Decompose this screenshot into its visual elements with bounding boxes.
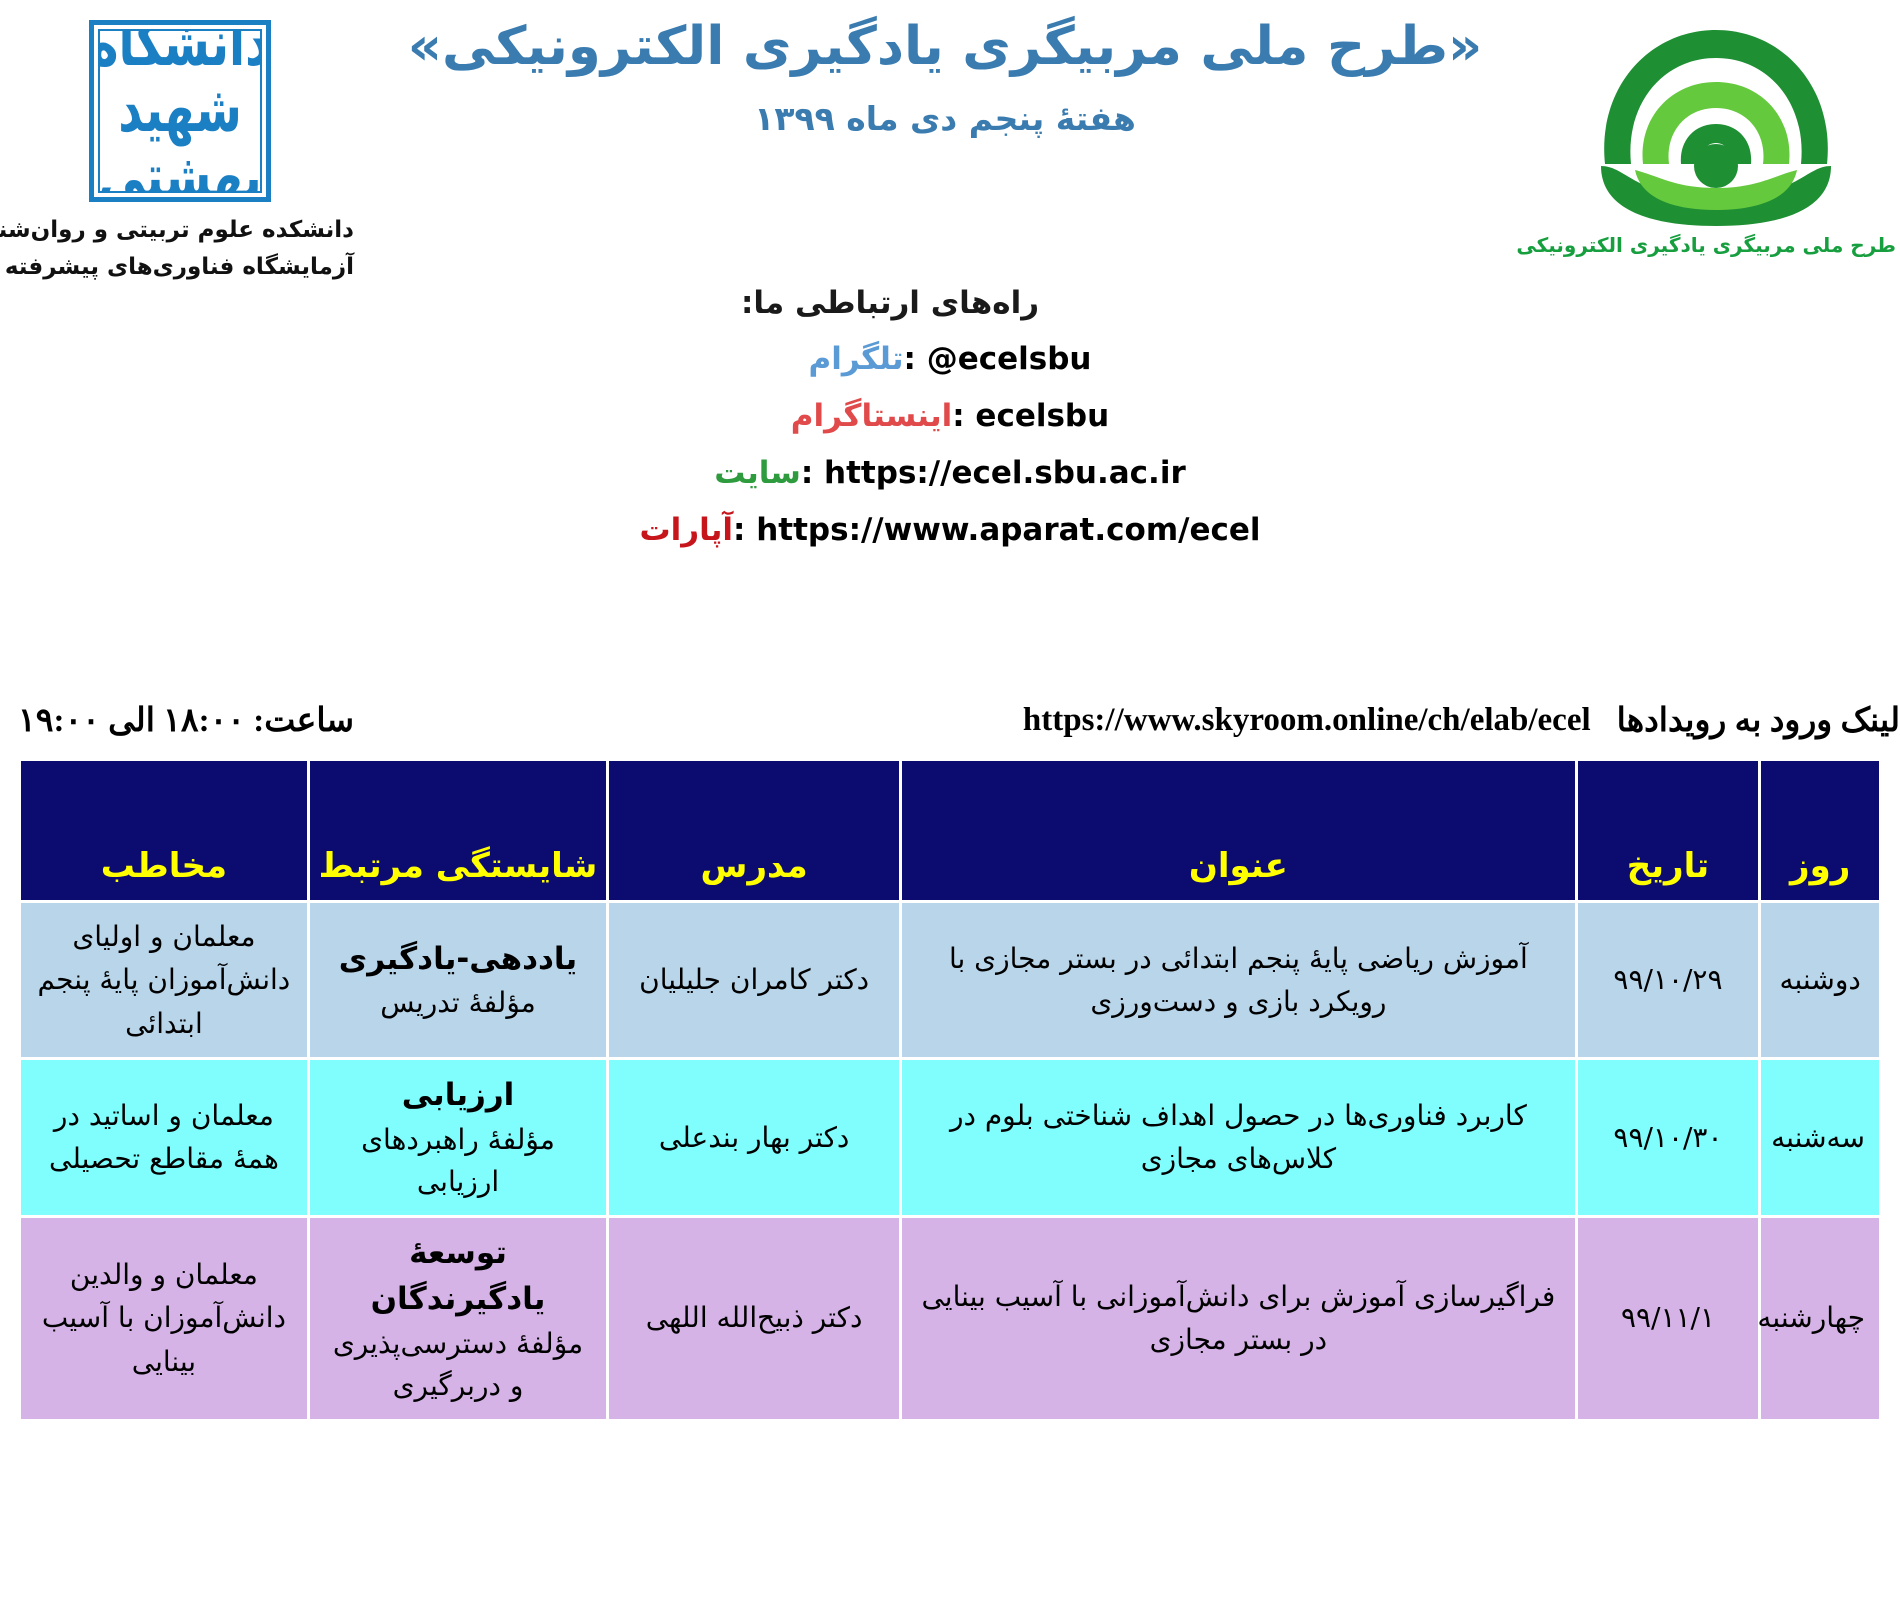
table-row: سه‌شنبه ۹۹/۱۰/۳۰ کاربرد فناوری‌ها در حصو… [21, 1060, 1879, 1215]
ecel-logo-block: طرح ملی مربیگری یادگیری الکترونیکی [1536, 4, 1896, 257]
contact-value-website[interactable]: https://ecel.sbu.ac.ir [824, 455, 1186, 491]
sbu-logo-label: دانشگاه شهید بهشتی [98, 29, 262, 193]
contact-label-telegram: تلگرام [809, 341, 904, 377]
cell-teacher: دکتر بهار بندعلی [609, 1060, 899, 1215]
column-header-date: تاریخ [1578, 761, 1759, 900]
cell-audience: معلمان و اساتید در همهٔ مقاطع تحصیلی [21, 1060, 307, 1215]
cell-title: کاربرد فناوری‌ها در حصول اهداف شناختی بل… [902, 1060, 1574, 1215]
cell-competency: ارزیابی مؤلفهٔ راهبردهای ارزیابی [310, 1060, 606, 1215]
contact-colon-aparat: : [733, 512, 756, 548]
event-link-url[interactable]: https://www.skyroom.online/ch/elab/ecel [1023, 702, 1591, 739]
cell-competency: توسعهٔ یادگیرندگان مؤلفهٔ دسترسی‌پذیری و… [310, 1218, 606, 1419]
contact-colon-telegram: : [903, 341, 926, 377]
event-time-text: ساعت: ۱۸:۰۰ الی ۱۹:۰۰ [0, 700, 954, 740]
event-link-label: لینک ورود به رویدادها [1617, 700, 1900, 740]
schedule-table-wrapper: روز تاریخ عنوان مدرس شایستگی مرتبط مخاطب… [18, 758, 1882, 1620]
contact-colon-website: : [801, 455, 824, 491]
ecel-logo-icon [1591, 14, 1841, 229]
cell-date: ۹۹/۱۰/۳۰ [1578, 1060, 1759, 1215]
cell-date: ۹۹/۱۰/۲۹ [1578, 903, 1759, 1057]
cell-title: فراگیرسازی آموزش برای دانش‌آموزانی با آس… [902, 1218, 1574, 1419]
cell-day: دوشنبه [1761, 903, 1879, 1057]
cell-competency: یاددهی-یادگیری مؤلفهٔ تدریس [310, 903, 606, 1057]
column-header-title: عنوان [902, 761, 1574, 900]
contact-label-aparat: آپارات [639, 512, 733, 548]
contact-row-instagram: ecelsbu :اینستاگرام [0, 398, 1900, 434]
competency-main: ارزیابی [324, 1072, 592, 1119]
column-header-day: روز [1761, 761, 1879, 900]
contact-label-website: سایت [714, 455, 801, 491]
contact-row-website: https://ecel.sbu.ac.ir :سایت [0, 455, 1900, 491]
table-header-row: روز تاریخ عنوان مدرس شایستگی مرتبط مخاطب [21, 761, 1879, 900]
contact-heading: راه‌های ارتباطی ما: [0, 285, 1900, 321]
contact-value-aparat[interactable]: https://www.aparat.com/ecel [756, 512, 1260, 548]
competency-main: یاددهی-یادگیری [324, 936, 592, 983]
sbu-logo-block: دانشگاه شهید بهشتی دانشکده علوم تربیتی و… [0, 8, 360, 286]
table-row: چهارشنبه ۹۹/۱۱/۱ فراگیرسازی آموزش برای د… [21, 1218, 1879, 1419]
page-title: «طرح ملی مربیگری یادگیری الکترونیکی» [360, 14, 1530, 80]
faculty-name-line1: دانشکده علوم تربیتی و روان‌شناسی [0, 212, 360, 249]
competency-sub: مؤلفهٔ راهبردهای ارزیابی [324, 1119, 592, 1203]
contact-row-telegram: @ecelsbu :تلگرام [0, 341, 1900, 377]
ecel-logo-caption: طرح ملی مربیگری یادگیری الکترونیکی [1536, 233, 1896, 257]
poster-root: دانشگاه شهید بهشتی دانشکده علوم تربیتی و… [0, 0, 1900, 1620]
cell-audience: معلمان و والدین دانش‌آموزان با آسیب بینا… [21, 1218, 307, 1419]
contact-row-aparat: https://www.aparat.com/ecel :آپارات [0, 512, 1900, 548]
schedule-table: روز تاریخ عنوان مدرس شایستگی مرتبط مخاطب… [18, 758, 1882, 1422]
cell-teacher: دکتر ذبیح‌الله اللهی [609, 1218, 899, 1419]
contact-colon-instagram: : [952, 398, 975, 434]
sbu-university-logo: دانشگاه شهید بهشتی [89, 20, 271, 202]
competency-main: توسعهٔ یادگیرندگان [324, 1230, 592, 1323]
cell-day: چهارشنبه [1761, 1218, 1879, 1419]
event-link-group: لینک ورود به رویدادها https://www.skyroo… [954, 700, 1900, 740]
poster-header: دانشگاه شهید بهشتی دانشکده علوم تربیتی و… [0, 0, 1900, 330]
event-link-bar: لینک ورود به رویدادها https://www.skyroo… [0, 690, 1900, 750]
competency-sub: مؤلفهٔ تدریس [324, 982, 592, 1024]
column-header-competency: شایستگی مرتبط [310, 761, 606, 900]
cell-day: سه‌شنبه [1761, 1060, 1879, 1215]
title-block: «طرح ملی مربیگری یادگیری الکترونیکی» هفت… [360, 14, 1530, 142]
contact-label-instagram: اینستاگرام [791, 398, 952, 434]
table-row: دوشنبه ۹۹/۱۰/۲۹ آموزش ریاضی پایهٔ پنجم ا… [21, 903, 1879, 1057]
contact-block: راه‌های ارتباطی ما: @ecelsbu :تلگرام ece… [0, 285, 1900, 569]
contact-value-telegram[interactable]: @ecelsbu [927, 341, 1092, 377]
column-header-teacher: مدرس [609, 761, 899, 900]
competency-sub: مؤلفهٔ دسترسی‌پذیری و دربرگیری [324, 1323, 592, 1407]
column-header-audience: مخاطب [21, 761, 307, 900]
cell-date: ۹۹/۱۱/۱ [1578, 1218, 1759, 1419]
cell-audience: معلمان و اولیای دانش‌آموزان پایهٔ پنجم ا… [21, 903, 307, 1057]
page-subtitle: هفتهٔ پنجم دی ماه ۱۳۹۹ [360, 96, 1530, 142]
contact-value-instagram[interactable]: ecelsbu [975, 398, 1109, 434]
sbu-logo-inner-frame: دانشگاه شهید بهشتی [98, 29, 262, 193]
cell-title: آموزش ریاضی پایهٔ پنجم ابتدائی در بستر م… [902, 903, 1574, 1057]
cell-teacher: دکتر کامران جلیلیان [609, 903, 899, 1057]
lab-name-line2: آزمایشگاه فناوری‌های پیشرفته یادگیری [0, 249, 360, 286]
